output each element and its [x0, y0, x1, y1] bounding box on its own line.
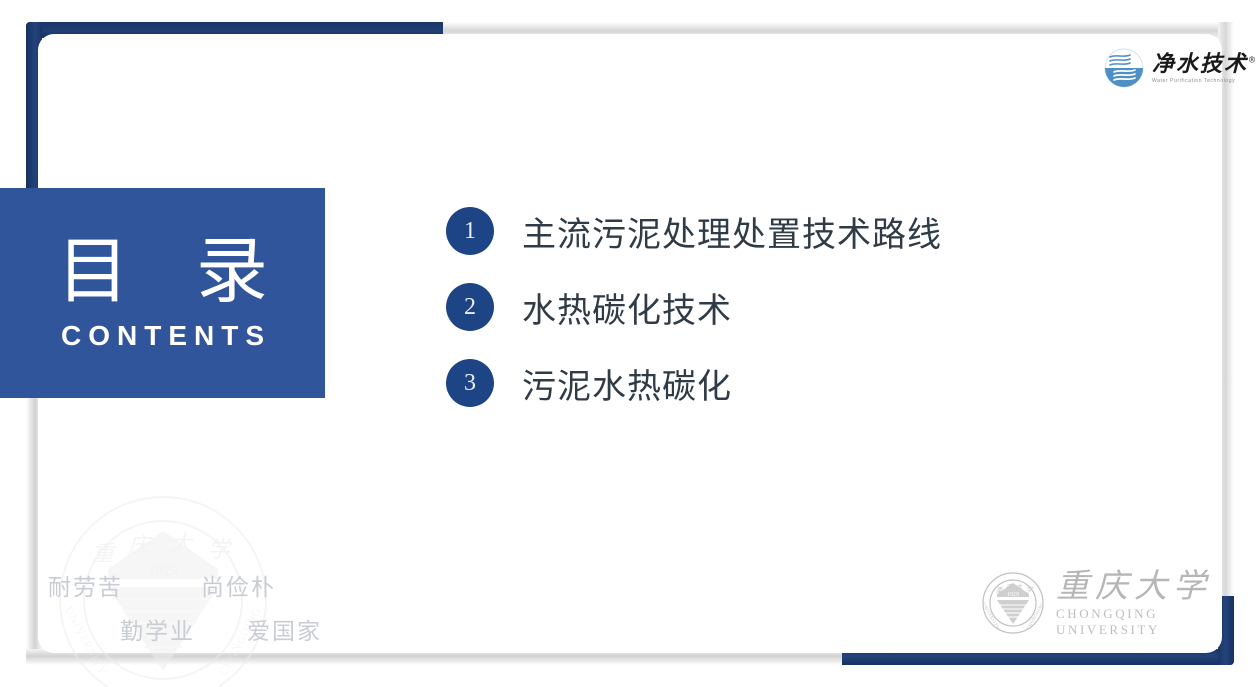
agenda-item-1[interactable]: 1 主流污泥处理处置技术路线: [446, 193, 942, 269]
contents-title-en: CONTENTS: [54, 320, 271, 352]
contents-panel: 目 录 CONTENTS: [0, 188, 325, 398]
svg-text:UNIVERSITY: UNIVERSITY: [982, 602, 1001, 631]
university-motto-watermark: 耐劳苦尚俭朴 勤学业爱国家: [48, 566, 368, 654]
agenda-label-2: 水热碳化技术: [522, 283, 732, 332]
brand-name-en: Water Purification Technology: [1152, 78, 1258, 84]
svg-text:学: 学: [208, 538, 233, 563]
agenda-item-3[interactable]: 3 污泥水热碳化: [446, 345, 942, 421]
brand-text: 净水技术® Water Purification Technology: [1152, 53, 1258, 84]
svg-text:1929: 1929: [1007, 592, 1019, 598]
svg-text:重: 重: [92, 542, 117, 567]
motto-line2-part-b: 爱国家: [247, 619, 322, 645]
svg-text:CHONGQING: CHONGQING: [1025, 601, 1044, 630]
contents-title-cn: 目 录: [35, 234, 290, 310]
brand-logo: 净水技术® Water Purification Technology: [1104, 48, 1258, 88]
agenda-number-badge-1: 1: [446, 207, 494, 255]
agenda-list: 1 主流污泥处理处置技术路线 2 水热碳化技术 3 污泥水热碳化: [446, 193, 942, 421]
motto-line2-part-a: 勤学业: [120, 619, 195, 645]
motto-line-1: 耐劳苦尚俭朴: [48, 566, 368, 610]
agenda-number-badge-3: 3: [446, 359, 494, 407]
slide-canvas: 1929 CHONGQING UNIVERSITY 重 庆 大 学 耐劳苦尚俭朴…: [0, 0, 1260, 687]
university-name-en: CHONGQING UNIVERSITY: [1056, 606, 1260, 638]
brand-name-cn: 净水技术®: [1152, 53, 1258, 75]
university-name-cn: 重庆大学: [1056, 568, 1260, 604]
chongqing-university-seal-icon: 1929 重 庆 大 学 CHONGQING UNIVERSITY: [982, 572, 1044, 634]
agenda-label-1: 主流污泥处理处置技术路线: [522, 207, 942, 256]
motto-line-2: 勤学业爱国家: [48, 610, 368, 654]
brand-name-cn-text: 净水技术: [1152, 51, 1248, 77]
svg-text:学: 学: [1026, 586, 1034, 594]
svg-text:大: 大: [170, 532, 194, 557]
agenda-number-badge-2: 2: [446, 283, 494, 331]
water-wave-circle-icon: [1104, 48, 1144, 88]
agenda-label-3: 污泥水热碳化: [522, 359, 732, 408]
registered-mark-icon: ®: [1248, 55, 1258, 64]
svg-text:庆: 庆: [128, 534, 153, 559]
university-text: 重庆大学 CHONGQING UNIVERSITY: [1056, 568, 1260, 638]
motto-line1-part-b: 尚俭朴: [201, 575, 276, 601]
agenda-item-2[interactable]: 2 水热碳化技术: [446, 269, 942, 345]
motto-line1-part-a: 耐劳苦: [48, 575, 123, 601]
university-logo: 1929 重 庆 大 学 CHONGQING UNIVERSITY 重庆大学 C…: [982, 568, 1260, 638]
